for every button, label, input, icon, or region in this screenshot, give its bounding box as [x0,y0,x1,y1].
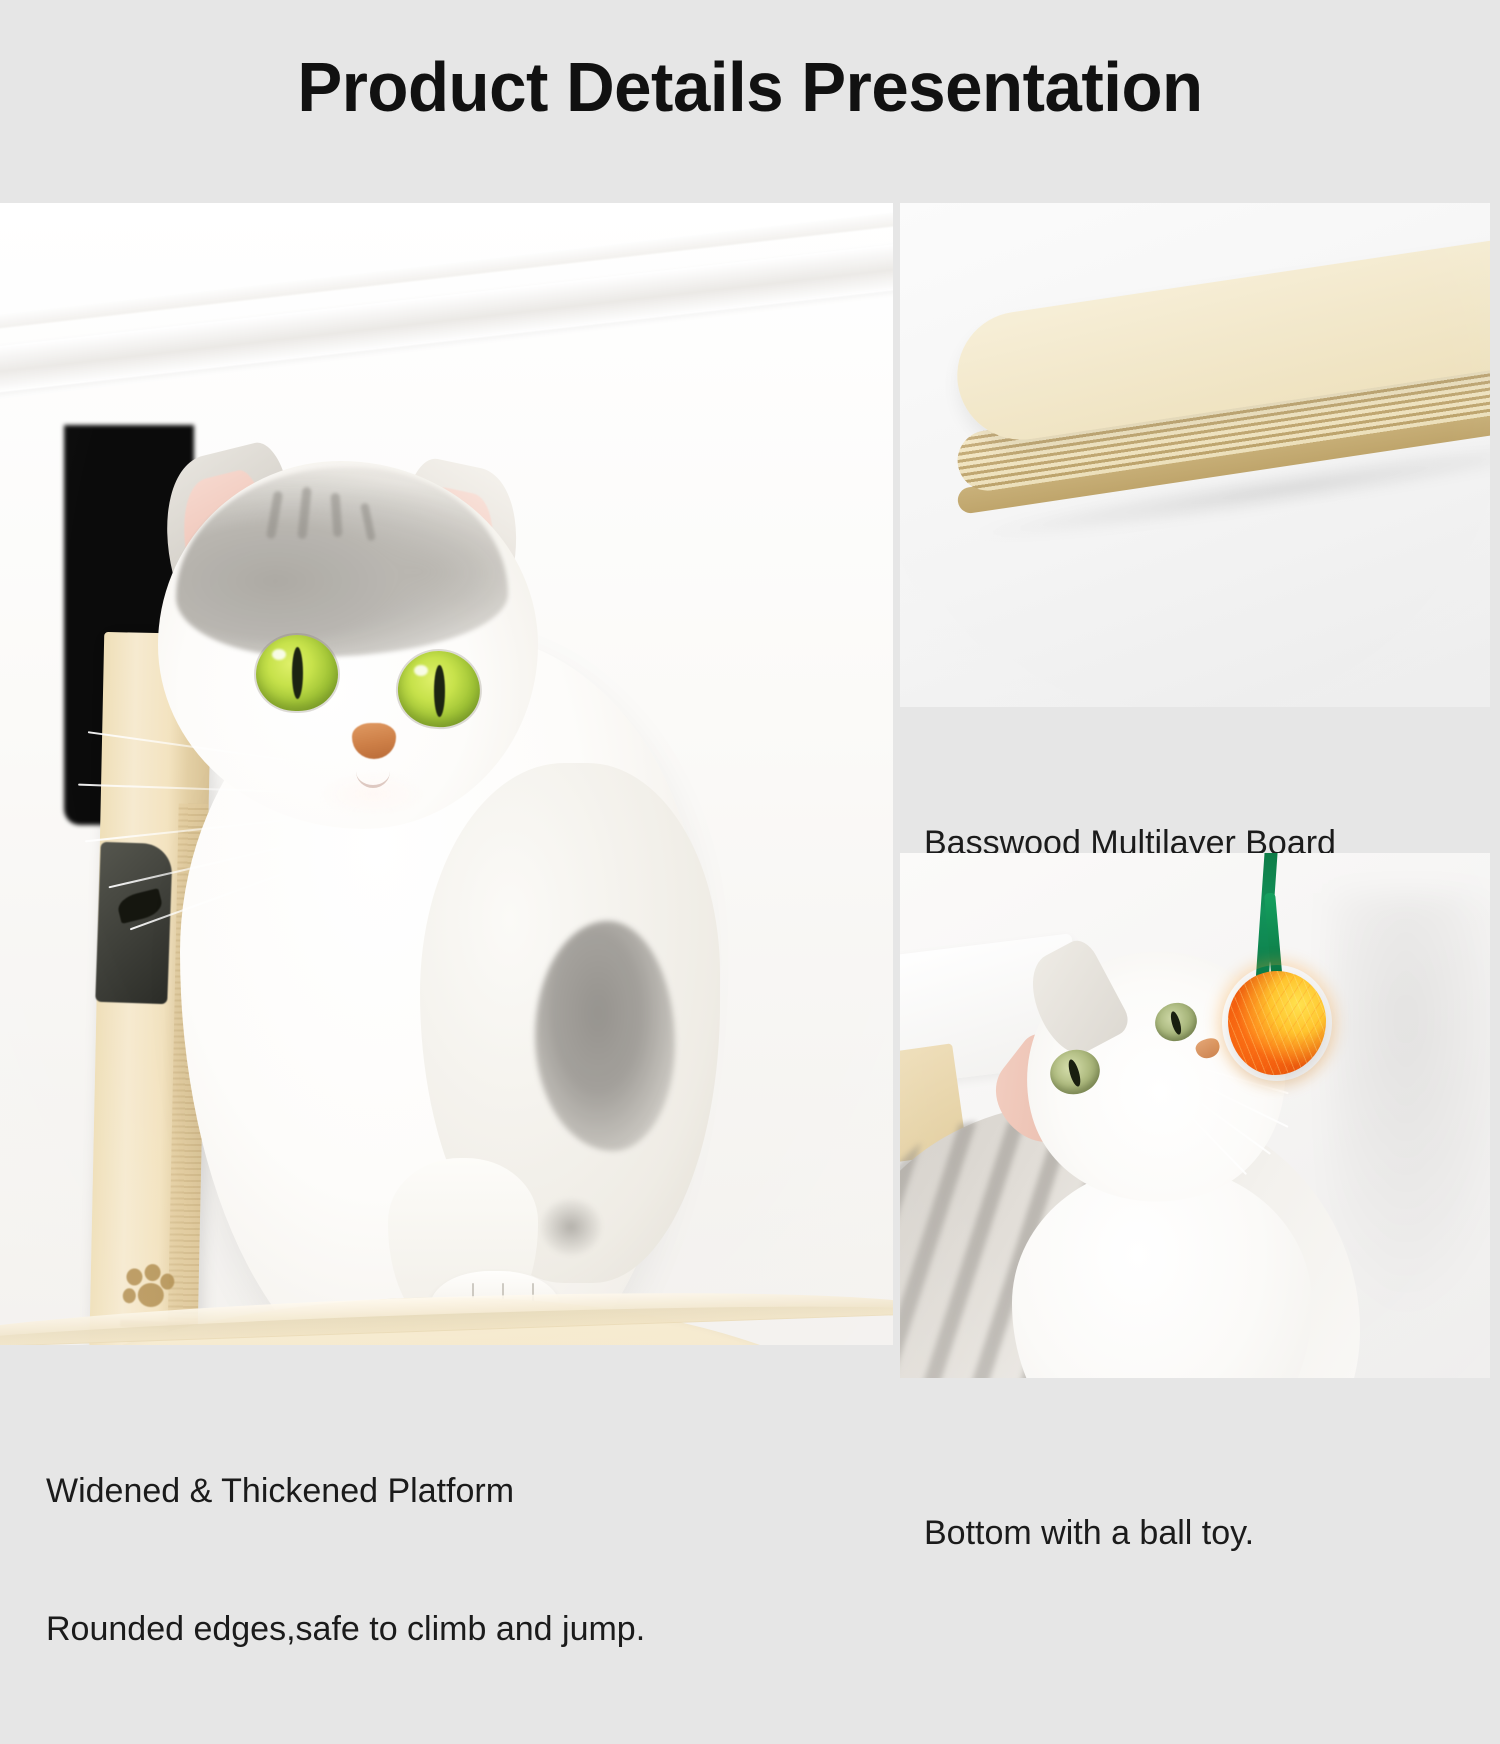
main-caption-line-1: Widened & Thickened Platform [46,1468,645,1514]
toy-wall-shadow [1330,893,1490,1313]
cat-mouth [356,755,390,788]
toy-caption-line-1: Bottom with a ball toy. [924,1510,1254,1556]
ball-toy-photo [900,853,1490,1378]
cat-eye-glint-right [414,665,428,676]
presentation-page: Product Details Presentation [0,0,1500,1500]
main-caption-line-2: Rounded edges,safe to climb and jump. [46,1606,645,1652]
page-title: Product Details Presentation [30,52,1470,122]
cat-pupil-left [292,647,303,699]
cat-illustration [0,203,893,1345]
cat-tabby-spot [540,1198,602,1256]
board-detail-photo [900,203,1490,707]
cat-eye-glint-left [272,649,286,660]
main-photo-caption: Widened & Thickened Platform Rounded edg… [46,1376,645,1744]
cat-pupil-right [434,665,445,717]
toy-photo-caption: Bottom with a ball toy. [924,1418,1254,1648]
main-product-photo: B [0,203,893,1345]
header-band: Product Details Presentation [0,0,1500,203]
